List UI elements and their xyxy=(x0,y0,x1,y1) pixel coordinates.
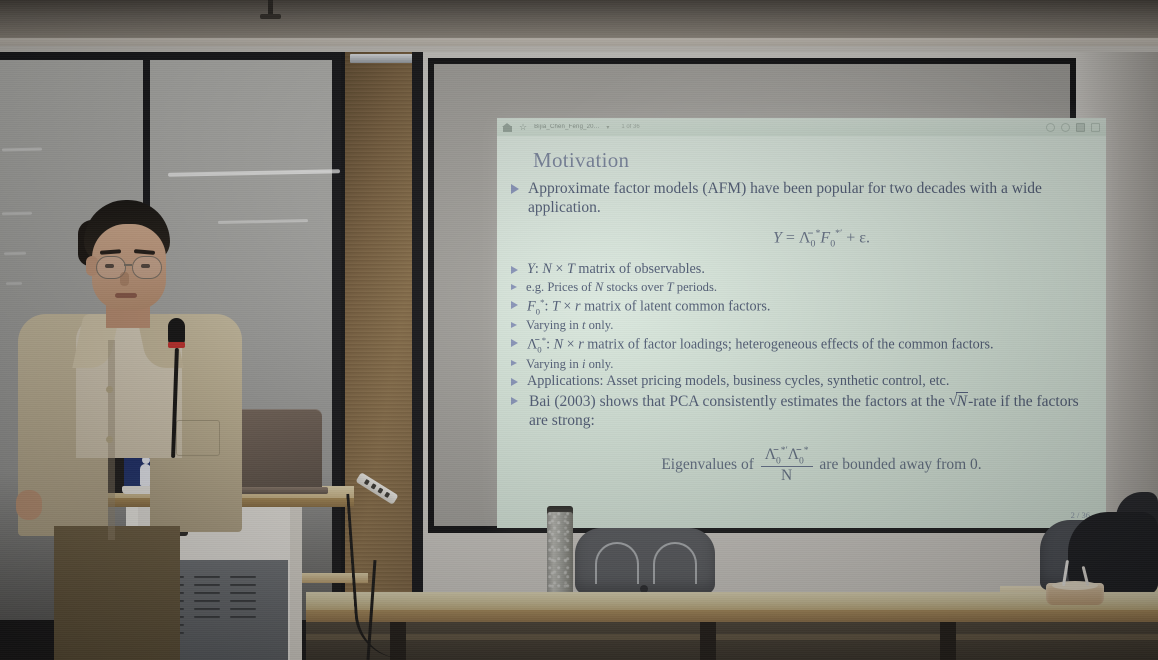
microphone-indicator xyxy=(168,342,185,348)
pdf-page-field[interactable]: 1 of 36 xyxy=(621,124,639,130)
bullet-bai2003: Bai (2003) shows that PCA consistently e… xyxy=(511,392,1092,431)
def-Lambda0-note: Varying in i only. xyxy=(511,357,1092,373)
bullet-text: Approximate factor models (AFM) have bee… xyxy=(528,180,1042,216)
sqrt-N: N xyxy=(949,392,968,411)
triangle-bullet-icon xyxy=(511,266,518,274)
table-rail xyxy=(306,634,1158,640)
table-leg xyxy=(700,622,716,660)
def-F0-note: Varying in t only. xyxy=(511,318,1092,334)
slide-title: Motivation xyxy=(533,148,1092,173)
jacket-pocket xyxy=(176,420,220,456)
triangle-bullet-icon xyxy=(511,378,518,386)
office-chair-center xyxy=(575,528,715,594)
triangle-bullet-icon xyxy=(511,301,518,309)
chevron-down-icon[interactable]: ▾ xyxy=(606,124,609,131)
star-icon[interactable]: ☆ xyxy=(519,123,527,132)
eyeglasses-bridge xyxy=(124,264,132,266)
podium-side xyxy=(290,505,302,660)
fraction-denominator: N xyxy=(761,467,813,486)
table-underside xyxy=(306,622,1158,660)
jacket-button xyxy=(106,436,113,443)
lecture-room-screenshot: ☆ Bijia_Chen_Feng_20... ▾ 1 of 36 Motiva… xyxy=(0,0,1158,660)
settings-icon[interactable] xyxy=(1046,123,1055,132)
chair-stitch xyxy=(595,542,639,584)
triangle-bullet-icon xyxy=(511,339,518,347)
toolbar-right-group xyxy=(1046,123,1100,132)
def-Lambda0: Λ̄0*: N × r matrix of factor loadings; h… xyxy=(511,335,1092,356)
menu-icon[interactable] xyxy=(1091,123,1100,132)
triangle-bullet-icon xyxy=(511,322,517,328)
bottle-texture xyxy=(547,512,573,602)
equation-eigenvalues: Eigenvalues of Λ̄0*′Λ̄0* N are bounded a… xyxy=(551,445,1092,486)
pdf-viewer-window[interactable]: ☆ Bijia_Chen_Feng_20... ▾ 1 of 36 Motiva… xyxy=(497,118,1106,528)
def-F0: F0*: T × r matrix of latent common facto… xyxy=(511,297,1092,318)
chair-stitch xyxy=(653,542,697,584)
mouth xyxy=(115,293,137,298)
conference-table-edge xyxy=(306,610,1158,622)
column-light-fixture xyxy=(350,54,418,63)
water-bottle xyxy=(547,512,573,602)
nose xyxy=(120,272,129,286)
presenter xyxy=(0,190,250,660)
triangle-bullet-icon xyxy=(511,184,519,194)
jacket-button xyxy=(106,386,113,393)
grid-icon[interactable] xyxy=(1076,123,1085,132)
definition-list: Y: N × T matrix of observables. e.g. Pri… xyxy=(511,261,1092,431)
def-Y: Y: N × T matrix of observables. xyxy=(511,261,1092,279)
def-applications: Applications: Asset pricing models, busi… xyxy=(511,373,1092,391)
bullet-intro: Approximate factor models (AFM) have bee… xyxy=(511,179,1092,218)
equation-main: Y = Λ̄0*F0*′ + ε. xyxy=(551,228,1092,250)
home-icon[interactable] xyxy=(503,123,512,132)
hand xyxy=(16,490,42,520)
triangle-bullet-icon xyxy=(511,284,517,290)
triangle-bullet-icon xyxy=(511,360,517,366)
beamer-slide: Motivation Approximate factor models (AF… xyxy=(497,136,1106,528)
trousers xyxy=(54,526,180,660)
equation-lead: Eigenvalues of xyxy=(661,456,754,473)
food-container-lid xyxy=(1052,581,1098,590)
table-leg xyxy=(940,622,956,660)
download-icon[interactable] xyxy=(1061,123,1070,132)
pdf-toolbar[interactable]: ☆ Bijia_Chen_Feng_20... ▾ 1 of 36 xyxy=(497,118,1106,136)
toolbar-left-group: ☆ Bijia_Chen_Feng_20... ▾ 1 of 36 xyxy=(503,123,640,132)
eyeglasses-lens xyxy=(132,256,162,279)
slide-bullet-list: Approximate factor models (AFM) have bee… xyxy=(511,179,1092,218)
fraction-numerator: Λ̄0*′Λ̄0* xyxy=(761,445,813,467)
equation-tail: are bounded away from 0. xyxy=(819,456,981,473)
def-Y-example: e.g. Prices of N stocks over T periods. xyxy=(511,280,1092,296)
fraction: Λ̄0*′Λ̄0* N xyxy=(761,445,813,486)
pdf-document-title: Bijia_Chen_Feng_20... xyxy=(534,124,599,130)
triangle-bullet-icon xyxy=(511,397,518,405)
ceiling-projector-mount xyxy=(268,0,273,16)
